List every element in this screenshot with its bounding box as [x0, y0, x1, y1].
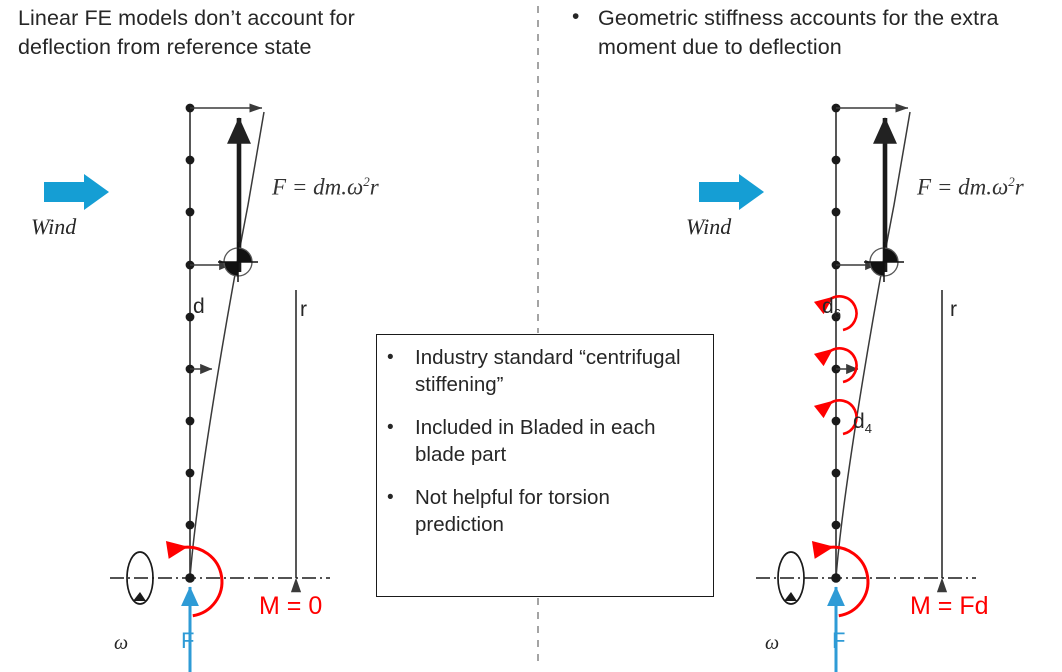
deflection-letter: d	[822, 295, 834, 318]
bullet-icon: •	[387, 484, 415, 511]
moment-label-left: M = 0	[259, 592, 322, 621]
header-bullet-left: • Linear FE models don’t account for def…	[0, 4, 392, 62]
radius-label-left: r	[300, 298, 307, 322]
force-label-left: F	[181, 628, 194, 654]
callout-list-item: • Included in Bladed in each blade part	[387, 414, 701, 468]
deflection-subscript: 4	[865, 421, 872, 436]
deflection-label-d4: d4	[853, 410, 872, 436]
formula-lhs: F	[272, 175, 286, 200]
wind-label-left: Wind	[31, 214, 76, 240]
formula-omega: ω	[992, 175, 1008, 200]
force-label-right: F	[832, 628, 845, 654]
callout-item-text: Included in Bladed in each blade part	[415, 414, 701, 468]
header-text-right: Geometric stiffness accounts for the ext…	[598, 4, 1002, 62]
wind-arrow-right	[699, 174, 764, 210]
centrifugal-force-formula-right: F = dm.ω2r	[917, 174, 1024, 201]
root-moment-arc-right	[819, 546, 872, 619]
center-of-gravity-icon-left	[218, 242, 258, 282]
omega-label-left: ω	[114, 632, 128, 655]
formula-rhs: dm.	[958, 175, 992, 200]
wind-arrow-left	[44, 174, 109, 210]
centrifugal-stiffening-callout: • Industry standard “centrifugal stiffen…	[376, 334, 714, 597]
omega-arrowhead-left	[133, 592, 146, 601]
root-moment-arc-left	[173, 546, 226, 619]
formula-lhs: F	[917, 175, 931, 200]
centrifugal-force-formula-left: F = dm.ω2r	[272, 174, 379, 201]
formula-eq: =	[292, 175, 308, 200]
omega-arrowhead-right	[784, 592, 797, 601]
header-text-left: Linear FE models don’t account for defle…	[18, 4, 392, 62]
formula-radius: r	[370, 175, 379, 200]
wind-label-right: Wind	[686, 214, 731, 240]
center-of-gravity-icon-right	[864, 242, 904, 282]
formula-rhs: dm.	[313, 175, 347, 200]
header-bullet-right: • Geometric stiffness accounts for the e…	[572, 4, 1002, 62]
formula-omega: ω	[347, 175, 363, 200]
bullet-icon: •	[0, 4, 18, 30]
deflection-subscript: 6	[834, 306, 841, 321]
callout-list-item: • Not helpful for torsion prediction	[387, 484, 701, 538]
bullet-icon: •	[387, 344, 415, 371]
callout-item-text: Industry standard “centrifugal stiffenin…	[415, 344, 701, 398]
formula-radius: r	[1015, 175, 1024, 200]
callout-list-item: • Industry standard “centrifugal stiffen…	[387, 344, 701, 398]
deflection-letter: d	[853, 410, 865, 433]
blade-deflected-curve-left	[190, 112, 264, 578]
radius-label-right: r	[950, 298, 957, 322]
formula-eq: =	[937, 175, 953, 200]
moment-label-right: M = Fd	[910, 592, 989, 621]
bullet-icon: •	[387, 414, 415, 441]
slide-canvas: • Linear FE models don’t account for def…	[0, 0, 1062, 672]
callout-item-text: Not helpful for torsion prediction	[415, 484, 701, 538]
deflection-label-left: d	[193, 295, 205, 319]
omega-label-right: ω	[765, 632, 779, 655]
deflection-label-d6: d6	[822, 295, 841, 321]
bullet-icon: •	[572, 4, 598, 30]
blade-deflected-curve-right	[836, 112, 910, 578]
moment-arc-node-369	[829, 348, 857, 382]
